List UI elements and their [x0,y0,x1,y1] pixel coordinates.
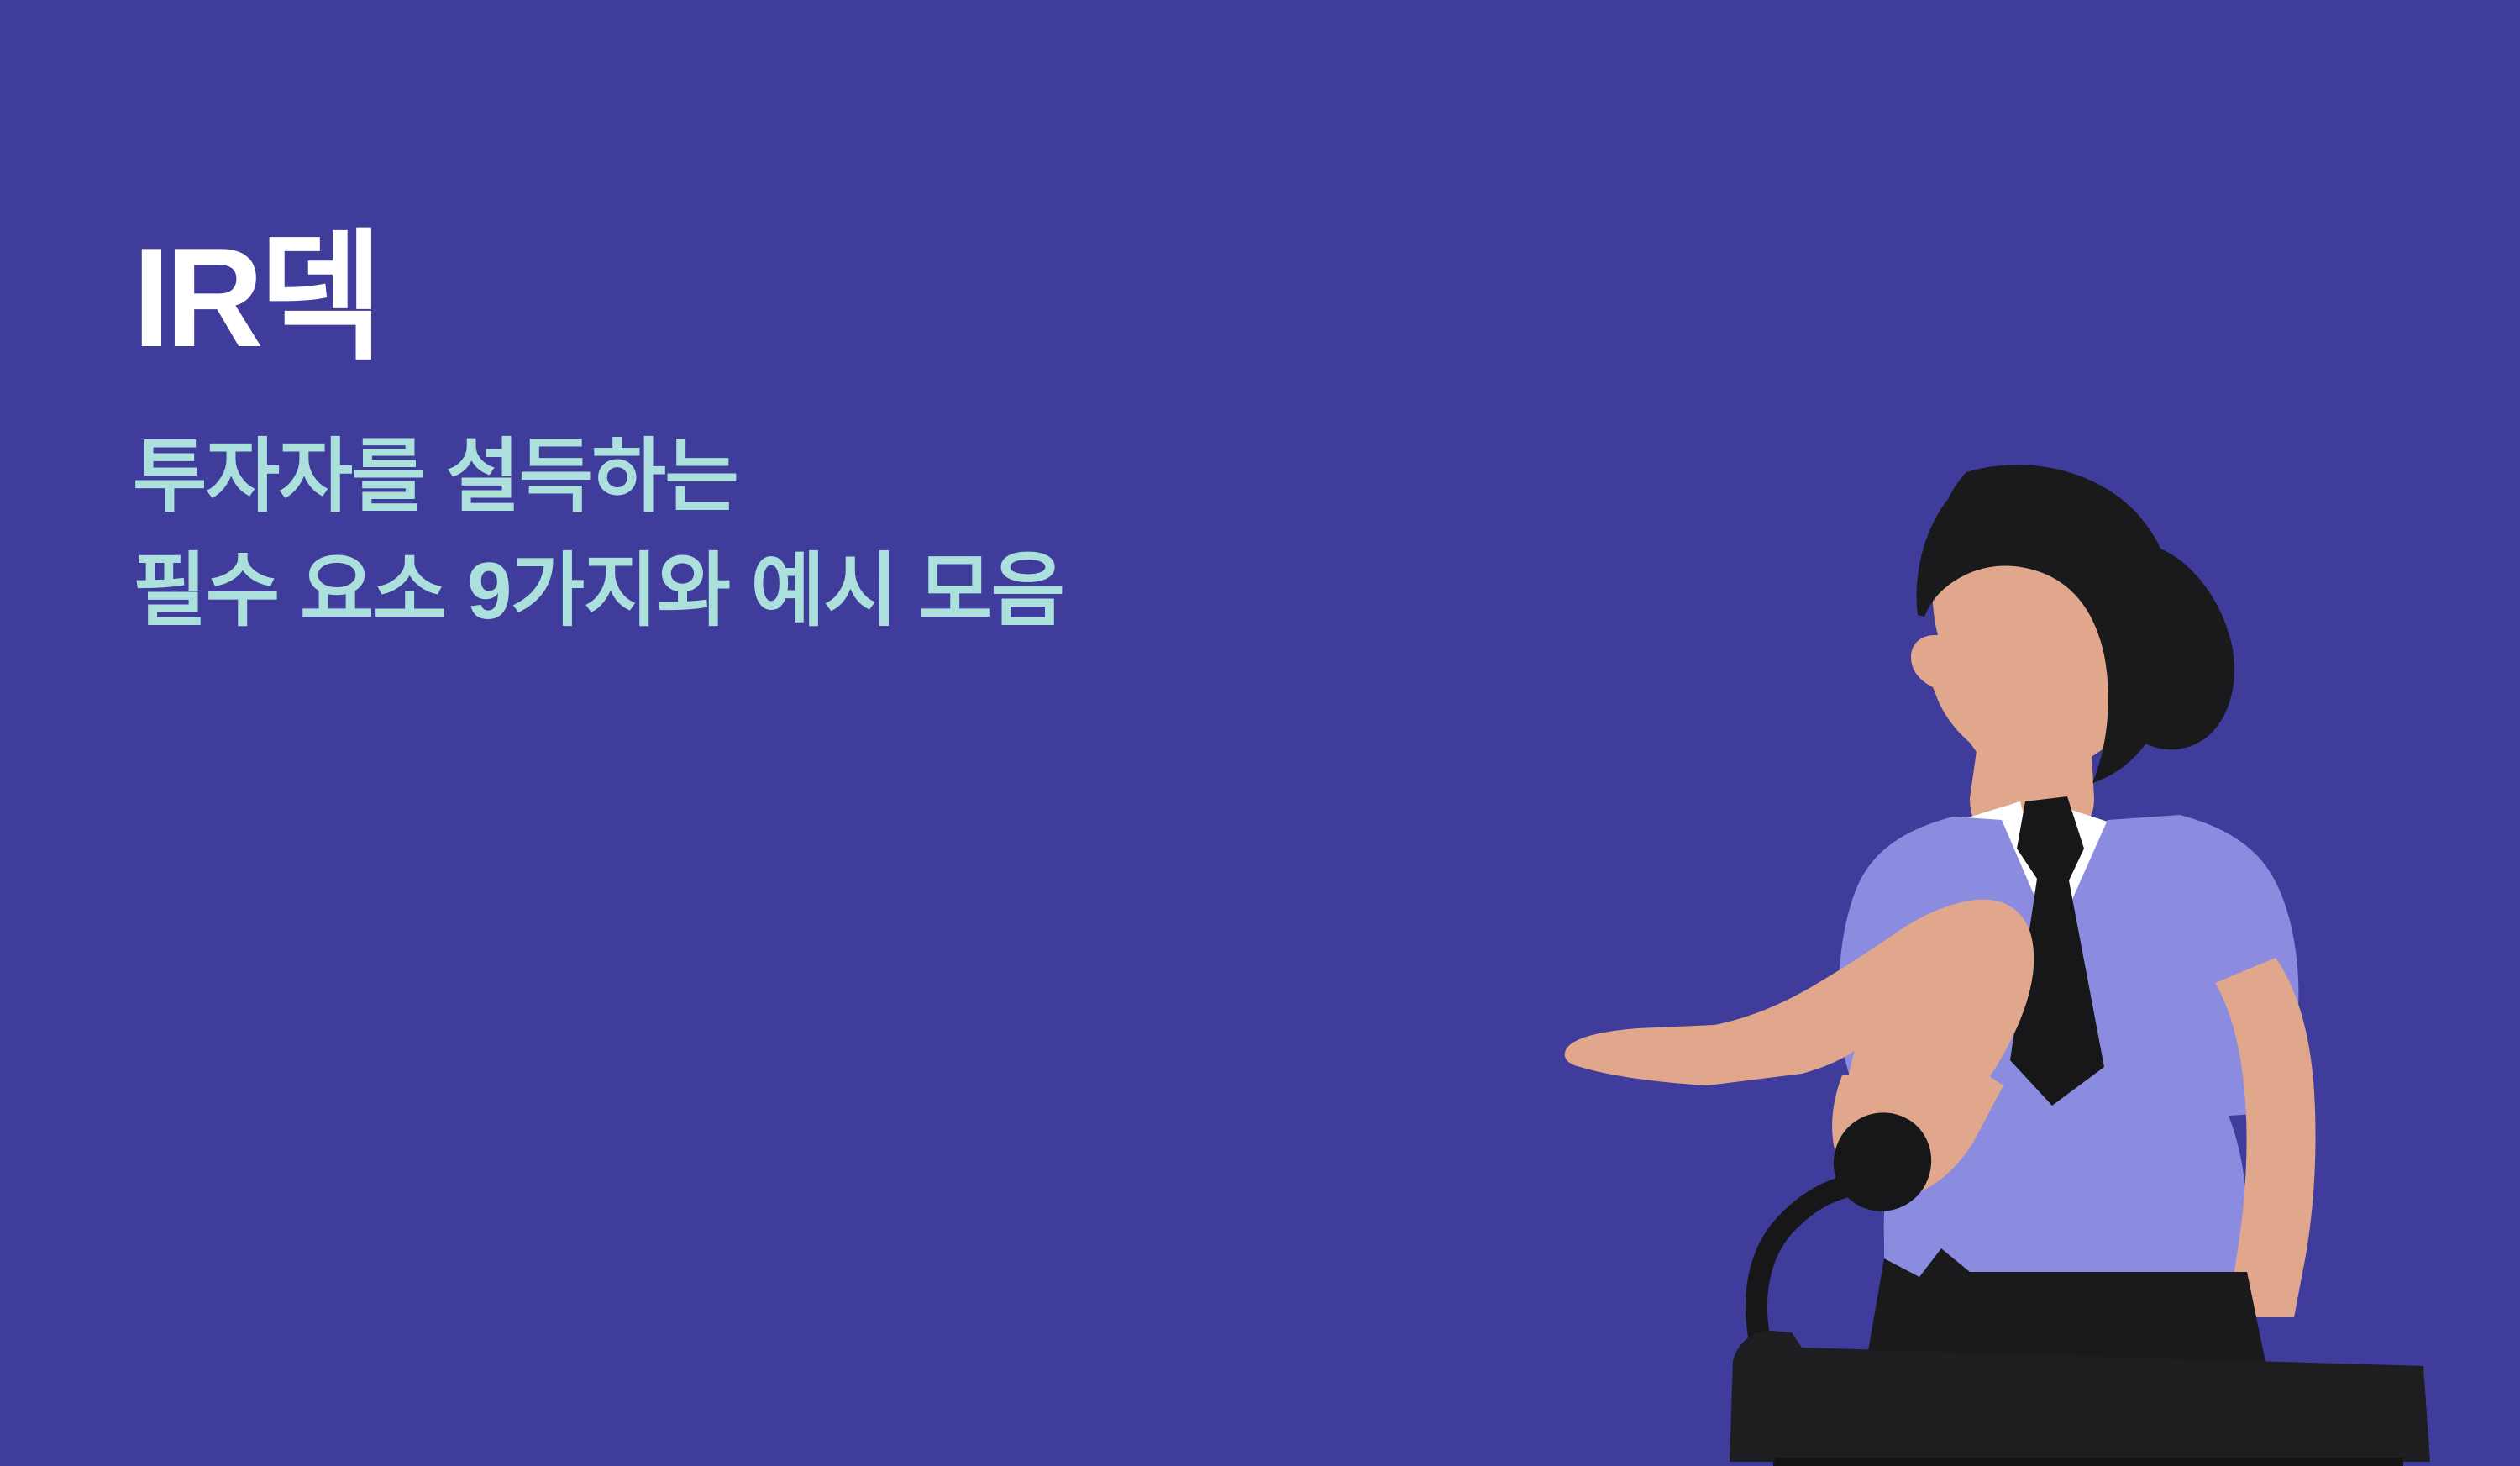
left-arm-gesturing [1565,900,2034,1199]
headline-line-1: 투자자를 설득하는 [133,420,1561,534]
brand-logo: IR덱 [133,227,1504,368]
text-block: IR덱 투자자를 설득하는 필수 요소 9가지와 예시 모음 [133,227,1561,649]
page-title: 투자자를 설득하는 필수 요소 9가지와 예시 모음 [133,420,1561,649]
headline-line-2: 필수 요소 9가지와 예시 모음 [133,534,1561,649]
illustration-woman-at-podium [1550,403,2520,1466]
slide-canvas: IR덱 투자자를 설득하는 필수 요소 9가지와 예시 모음 [0,0,2520,1466]
